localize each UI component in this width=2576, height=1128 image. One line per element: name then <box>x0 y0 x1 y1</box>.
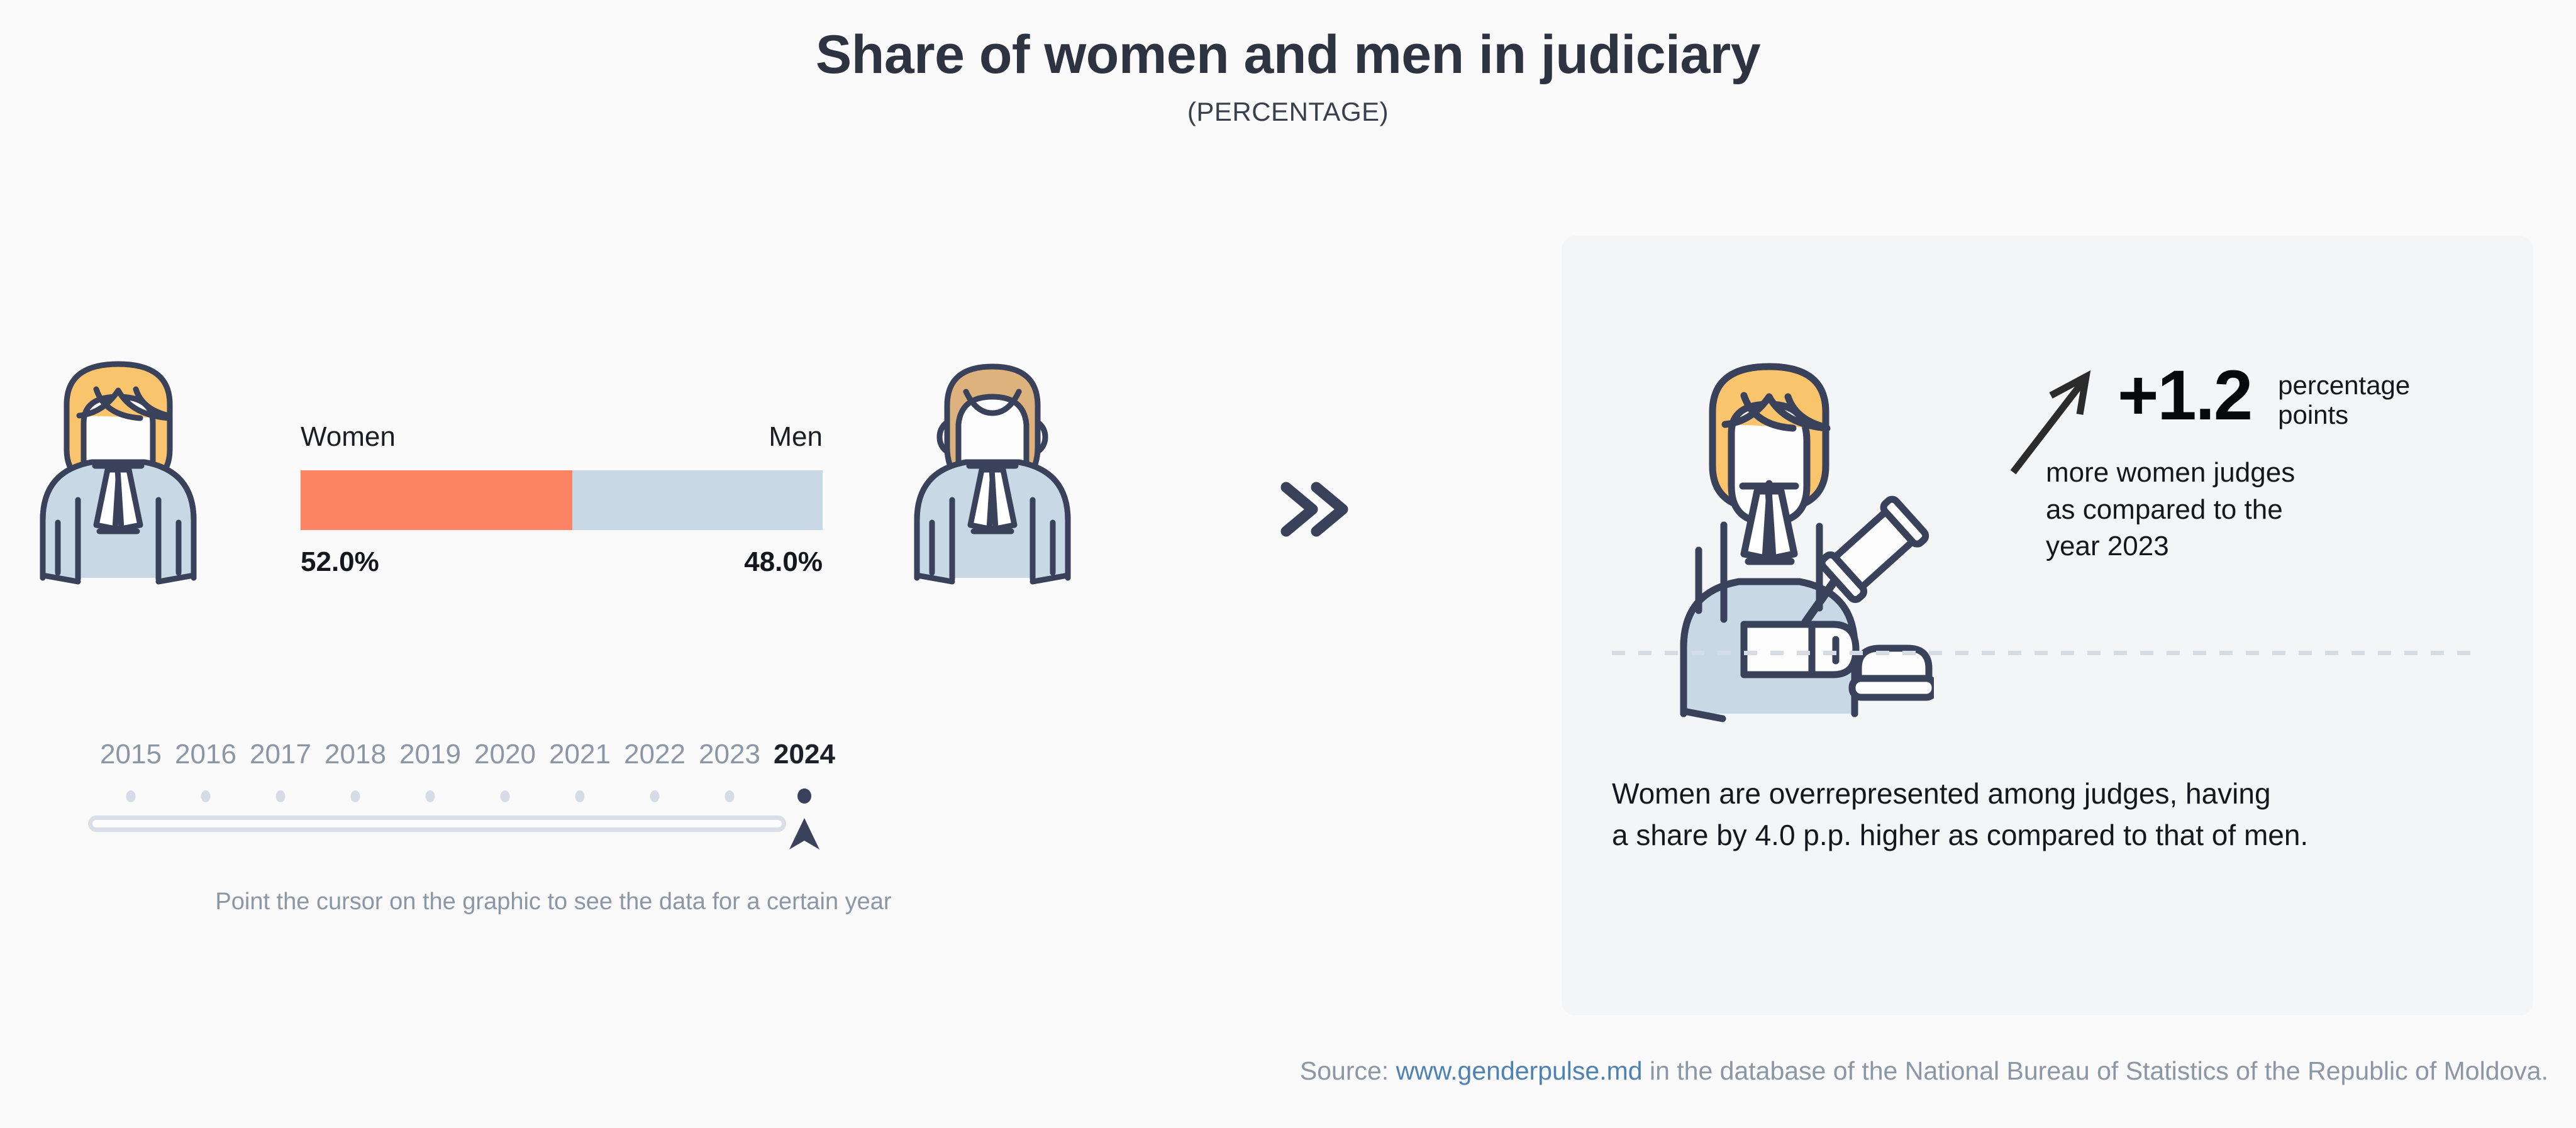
slider-track-row[interactable] <box>88 810 1019 848</box>
year-label-2021[interactable]: 2021 <box>549 739 611 770</box>
slider-track[interactable] <box>88 816 786 832</box>
kpi-unit: percentage points <box>2278 370 2410 429</box>
source-link[interactable]: www.genderpulse.md <box>1396 1056 1643 1085</box>
insight-panel: +1.2 percentage points more women judges… <box>1562 236 2533 1015</box>
year-label-2018[interactable]: 2018 <box>325 739 386 770</box>
year-dot-2021[interactable] <box>575 790 585 802</box>
year-dot-2018[interactable] <box>351 790 360 802</box>
source-suffix: in the database of the National Bureau o… <box>1643 1056 2548 1085</box>
year-label-2019[interactable]: 2019 <box>399 739 461 770</box>
women-label: Women <box>301 421 396 453</box>
men-value: 48.0% <box>744 546 823 578</box>
woman-judge-icon <box>24 324 213 591</box>
men-label: Men <box>769 421 823 453</box>
header: Share of women and men in judiciary (PER… <box>0 26 2576 127</box>
page-title: Share of women and men in judiciary <box>0 26 2576 83</box>
source-prefix: Source: <box>1300 1056 1396 1085</box>
year-label-2015[interactable]: 2015 <box>100 739 162 770</box>
year-dot-2016[interactable] <box>201 790 211 802</box>
kpi-description: more women judges as compared to the yea… <box>2046 455 2295 565</box>
bar-legend: Women Men <box>301 421 823 453</box>
infographic-root: Share of women and men in judiciary (PER… <box>0 0 2576 1128</box>
year-labels[interactable]: 2015201620172018201920202021202220232024 <box>88 739 1019 778</box>
year-dot-2017[interactable] <box>276 790 286 802</box>
year-label-2022[interactable]: 2022 <box>624 739 686 770</box>
year-dot-2019[interactable] <box>426 790 435 802</box>
slider-handle[interactable] <box>787 809 822 856</box>
double-chevron-right-icon <box>1274 475 1355 547</box>
panel-divider <box>1612 651 2483 655</box>
year-label-2024[interactable]: 2024 <box>774 739 835 770</box>
kpi-value: +1.2 <box>2118 360 2251 431</box>
bar-values: 52.0% 48.0% <box>301 546 823 578</box>
bar-segment-men[interactable] <box>572 470 823 530</box>
year-timeline[interactable]: 2015201620172018201920202021202220232024… <box>88 739 1019 848</box>
man-judge-icon <box>898 324 1087 591</box>
year-dot-2015[interactable] <box>126 790 136 802</box>
timeline-hint: Point the cursor on the graphic to see t… <box>88 888 1019 915</box>
year-label-2017[interactable]: 2017 <box>250 739 311 770</box>
year-dots[interactable] <box>88 785 1019 808</box>
year-label-2020[interactable]: 2020 <box>474 739 536 770</box>
year-dot-2020[interactable] <box>501 790 510 802</box>
woman-judge-with-gavel-icon <box>1663 329 1934 734</box>
year-label-2023[interactable]: 2023 <box>699 739 760 770</box>
women-value: 52.0% <box>301 546 379 578</box>
page-subtitle: (PERCENTAGE) <box>0 97 2576 127</box>
year-dot-2024[interactable] <box>797 788 811 804</box>
source-footer: Source: www.genderpulse.md in the databa… <box>1300 1056 2548 1086</box>
year-label-2016[interactable]: 2016 <box>175 739 236 770</box>
bar-segment-women[interactable] <box>301 470 572 530</box>
stacked-bar[interactable] <box>301 470 823 530</box>
year-dot-2023[interactable] <box>725 790 735 802</box>
year-dot-2022[interactable] <box>650 790 660 802</box>
share-bar-group: Women Men 52.0% 48.0% <box>301 421 823 578</box>
panel-note: Women are overrepresented among judges, … <box>1612 773 2505 856</box>
